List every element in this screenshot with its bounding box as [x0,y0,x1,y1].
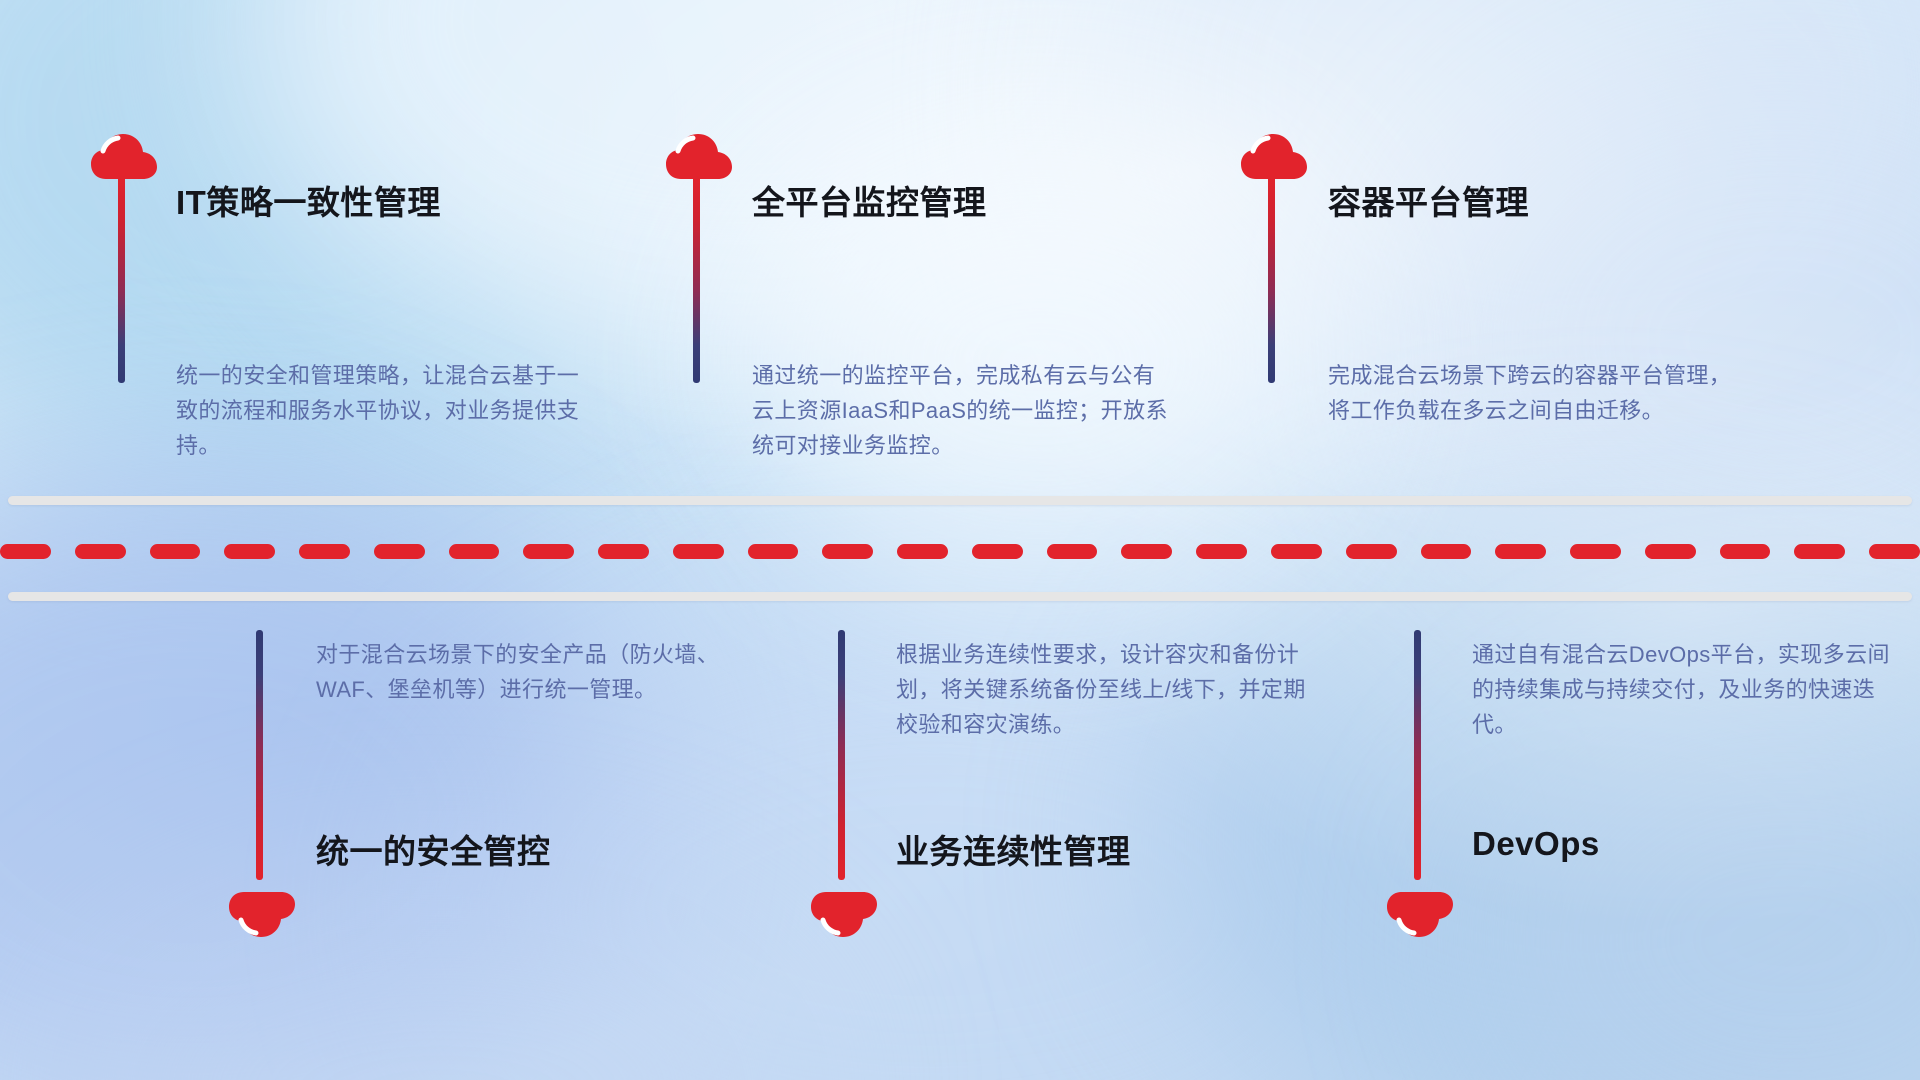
divider-dash [1495,544,1546,559]
divider-dash [0,544,51,559]
divider-rule-top [8,496,1912,505]
bottom-item-3-description: 通过自有混合云DevOps平台，实现多云间的持续集成与持续交付，及业务的快速迭代… [1472,637,1892,742]
bottom-item-1-description: 对于混合云场景下的安全产品（防火墙、WAF、堡垒机等）进行统一管理。 [316,637,736,707]
divider-dash [1121,544,1172,559]
background-blob [0,470,640,1080]
divider-dash [1570,544,1621,559]
divider-dash [523,544,574,559]
background-blob [60,880,820,1080]
divider-dash [673,544,724,559]
divider-dash [1421,544,1472,559]
cloud-icon [228,888,296,938]
divider-dash [748,544,799,559]
connector-stem [838,630,845,880]
top-item-2-title: 全平台监控管理 [752,176,987,224]
divider-rule-bottom [8,592,1912,601]
connector-stem [256,630,263,880]
divider-dash [1271,544,1322,559]
divider-dash [1794,544,1845,559]
divider-dash [1196,544,1247,559]
connector-stem [118,175,125,383]
connector-stem [1414,630,1421,880]
top-item-1-title: IT策略一致性管理 [176,176,441,224]
divider-dash [150,544,201,559]
divider-dash [897,544,948,559]
divider-dash [1346,544,1397,559]
divider-dash [1720,544,1771,559]
cloud-icon [1386,888,1454,938]
connector-stem [693,175,700,383]
divider-dash [1869,544,1920,559]
bottom-item-2-description: 根据业务连续性要求，设计容灾和备份计划，将关键系统备份至线上/线下，并定期校验和… [896,637,1316,742]
divider-dash [1047,544,1098,559]
divider-dash [1645,544,1696,559]
divider-dash [374,544,425,559]
top-item-2-description: 通过统一的监控平台，完成私有云与公有云上资源IaaS和PaaS的统一监控；开放系… [752,358,1172,463]
top-item-3-description: 完成混合云场景下跨云的容器平台管理，将工作负载在多云之间自由迁移。 [1328,358,1748,428]
top-item-1-description: 统一的安全和管理策略，让混合云基于一致的流程和服务水平协议，对业务提供支持。 [176,358,596,463]
bottom-item-3-title: DevOps [1472,825,1600,863]
hybrid-cloud-dashed-boundary [0,543,1920,559]
divider-dash [224,544,275,559]
bottom-item-2-title: 业务连续性管理 [896,825,1131,873]
bottom-item-1-title: 统一的安全管控 [316,825,551,873]
background-blob [1480,700,1920,1080]
background-blob [1430,60,1920,620]
divider-dash [972,544,1023,559]
divider-dash [75,544,126,559]
top-item-3-title: 容器平台管理 [1328,176,1529,224]
divider-dash [598,544,649,559]
cloud-icon [810,888,878,938]
background-blob [1150,520,1920,1080]
infographic-canvas: IT策略一致性管理 统一的安全和管理策略，让混合云基于一致的流程和服务水平协议，… [0,0,1920,1080]
connector-stem [1268,175,1275,383]
divider-dash [822,544,873,559]
divider-dash [299,544,350,559]
divider-dash [449,544,500,559]
